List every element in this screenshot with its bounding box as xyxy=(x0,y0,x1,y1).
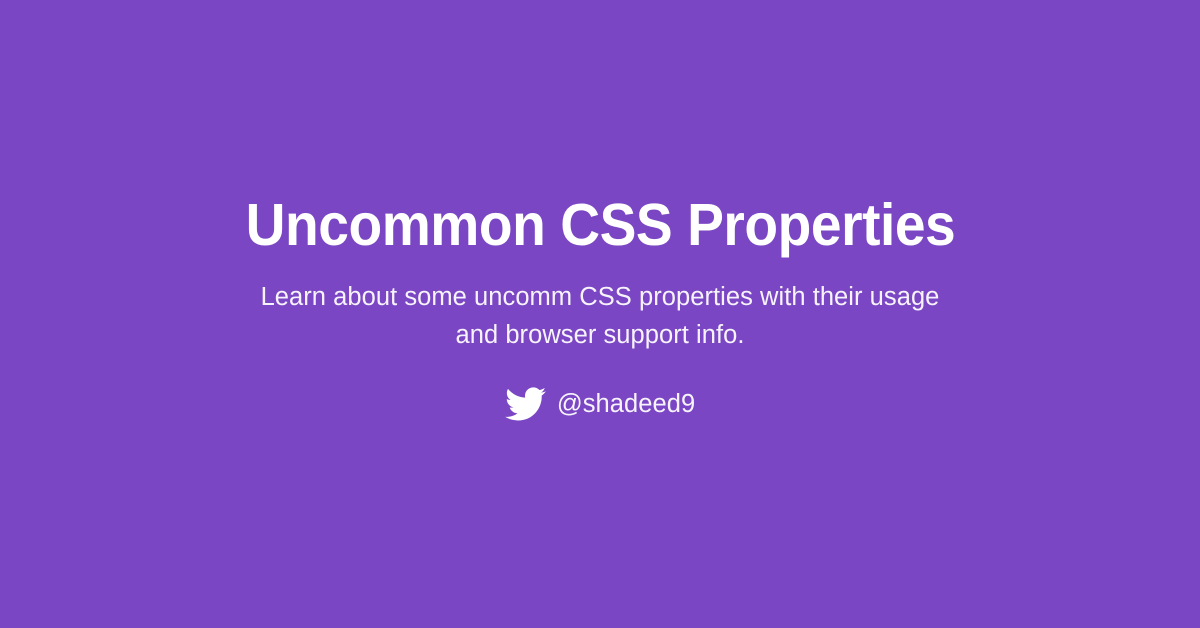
twitter-handle-row[interactable]: @shadeed9 xyxy=(505,354,695,421)
card-subtitle: Learn about some uncomm CSS properties w… xyxy=(255,256,945,354)
page-title: Uncommon CSS Properties xyxy=(245,195,955,255)
card-content: Uncommon CSS Properties Learn about some… xyxy=(130,195,1070,420)
social-share-card: Uncommon CSS Properties Learn about some… xyxy=(0,0,1200,628)
twitter-handle-label: @shadeed9 xyxy=(557,389,695,419)
twitter-bird-icon xyxy=(505,387,546,421)
